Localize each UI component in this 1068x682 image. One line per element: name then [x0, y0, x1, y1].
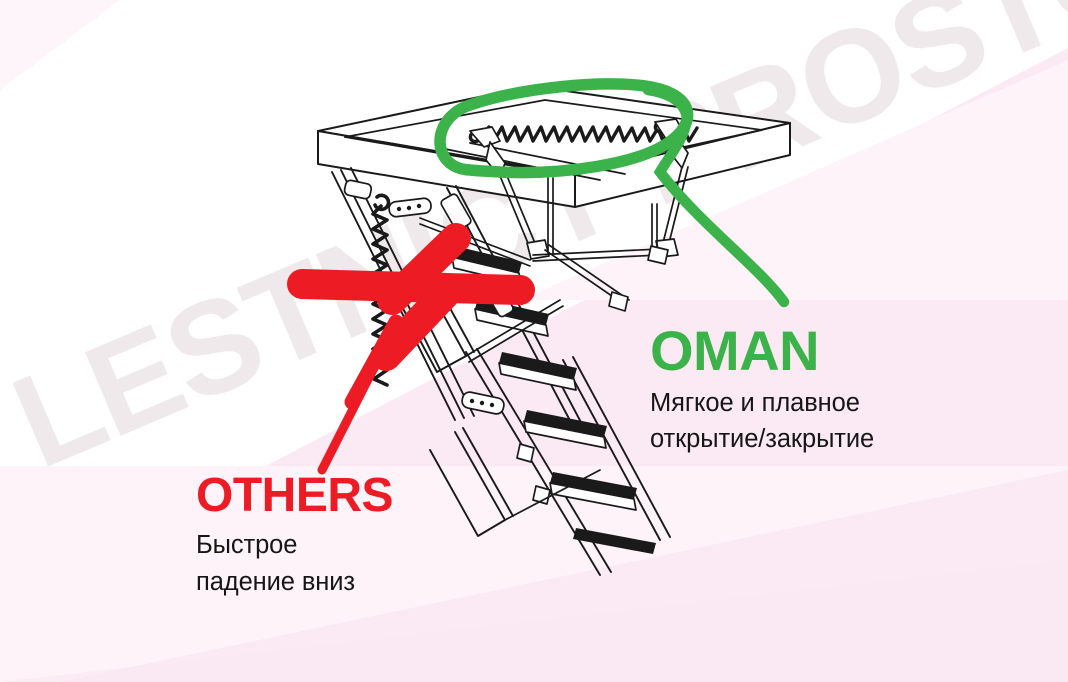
oman-subtitle-line-2: открытие/закрытие: [650, 421, 1050, 457]
others-subtitle: Быстрое падение вниз: [196, 527, 596, 602]
others-title: OTHERS: [196, 472, 596, 521]
oman-subtitle: Мягкое и плавное открытие/закрытие: [650, 385, 1050, 457]
others-callout: OTHERS Быстрое падение вниз: [196, 472, 596, 602]
green-highlight-ellipse: [440, 84, 784, 302]
comparison-infographic: LESTNICY-PROSTO.RU: [0, 0, 1068, 682]
oman-callout: OMAN Мягкое и плавное открытие/закрытие: [650, 322, 1050, 458]
oman-subtitle-line-1: Мягкое и плавное: [650, 385, 1050, 421]
others-subtitle-line-1: Быстрое: [196, 527, 596, 564]
others-subtitle-line-2: падение вниз: [196, 564, 596, 601]
oman-title: OMAN: [650, 322, 1050, 379]
red-arrow: [302, 238, 520, 470]
